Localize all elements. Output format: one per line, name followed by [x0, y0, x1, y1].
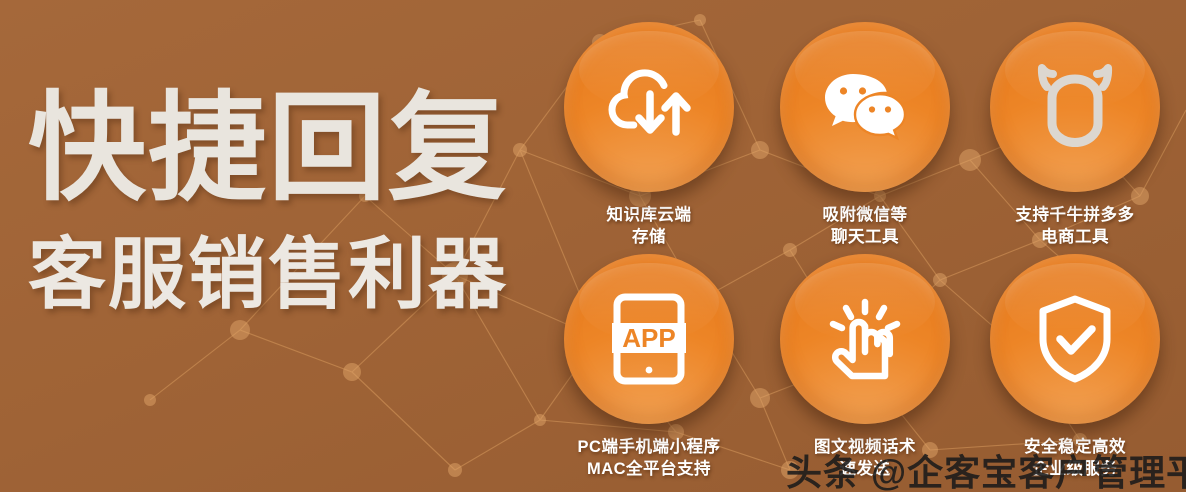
feature-item-ecommerce-tools[interactable]: 支持千牛拼多多 电商工具	[968, 22, 1182, 249]
caption-line-1: PC端手机端小程序	[578, 438, 721, 456]
page-subtitle: 客服销售利器	[28, 234, 548, 316]
icon-circle	[780, 22, 950, 192]
app-label: APP	[622, 323, 675, 353]
feature-caption: PC端手机端小程序 MAC全平台支持	[542, 436, 756, 481]
caption-line-1: 知识库云端	[607, 206, 692, 224]
caption-line-2: 存储	[542, 226, 756, 248]
caption-line-1: 吸附微信等	[823, 206, 908, 224]
wechat-icon	[821, 70, 909, 144]
watermark-text: 头条 @企客宝客户管理平台	[786, 444, 1186, 492]
feature-caption: 知识库云端 存储	[542, 204, 756, 249]
icon-circle	[564, 22, 734, 192]
caption-line-2: 聊天工具	[758, 226, 972, 248]
page-title: 快捷回复	[28, 88, 548, 212]
feature-caption: 支持千牛拼多多 电商工具	[968, 204, 1182, 249]
icon-circle	[780, 254, 950, 424]
cloud-sync-icon	[606, 68, 692, 146]
caption-line-2: MAC全平台支持	[542, 458, 756, 480]
feature-item-wechat-attach[interactable]: 吸附微信等 聊天工具	[758, 22, 972, 249]
icon-circle	[990, 22, 1160, 192]
feature-item-multiplatform[interactable]: APP PC端手机端小程序 MAC全平台支持	[542, 254, 756, 481]
promo-banner: 快捷回复 客服销售利器 知识库云端 存储	[0, 0, 1186, 492]
feature-grid: 知识库云端 存储 吸附微信等 聊天工具	[540, 0, 1186, 492]
caption-line-2: 电商工具	[968, 226, 1182, 248]
icon-circle: APP	[564, 254, 734, 424]
caption-line-1: 支持千牛拼多多	[1016, 206, 1135, 224]
headline-block: 快捷回复 客服销售利器	[28, 88, 548, 316]
icon-circle	[990, 254, 1160, 424]
feature-caption: 吸附微信等 聊天工具	[758, 204, 972, 249]
tap-hand-icon	[822, 296, 908, 382]
qianniu-ox-icon	[1037, 64, 1113, 150]
feature-item-cloud-storage[interactable]: 知识库云端 存储	[542, 22, 756, 249]
tablet-app-icon: APP	[612, 293, 686, 385]
shield-check-icon	[1035, 294, 1115, 384]
